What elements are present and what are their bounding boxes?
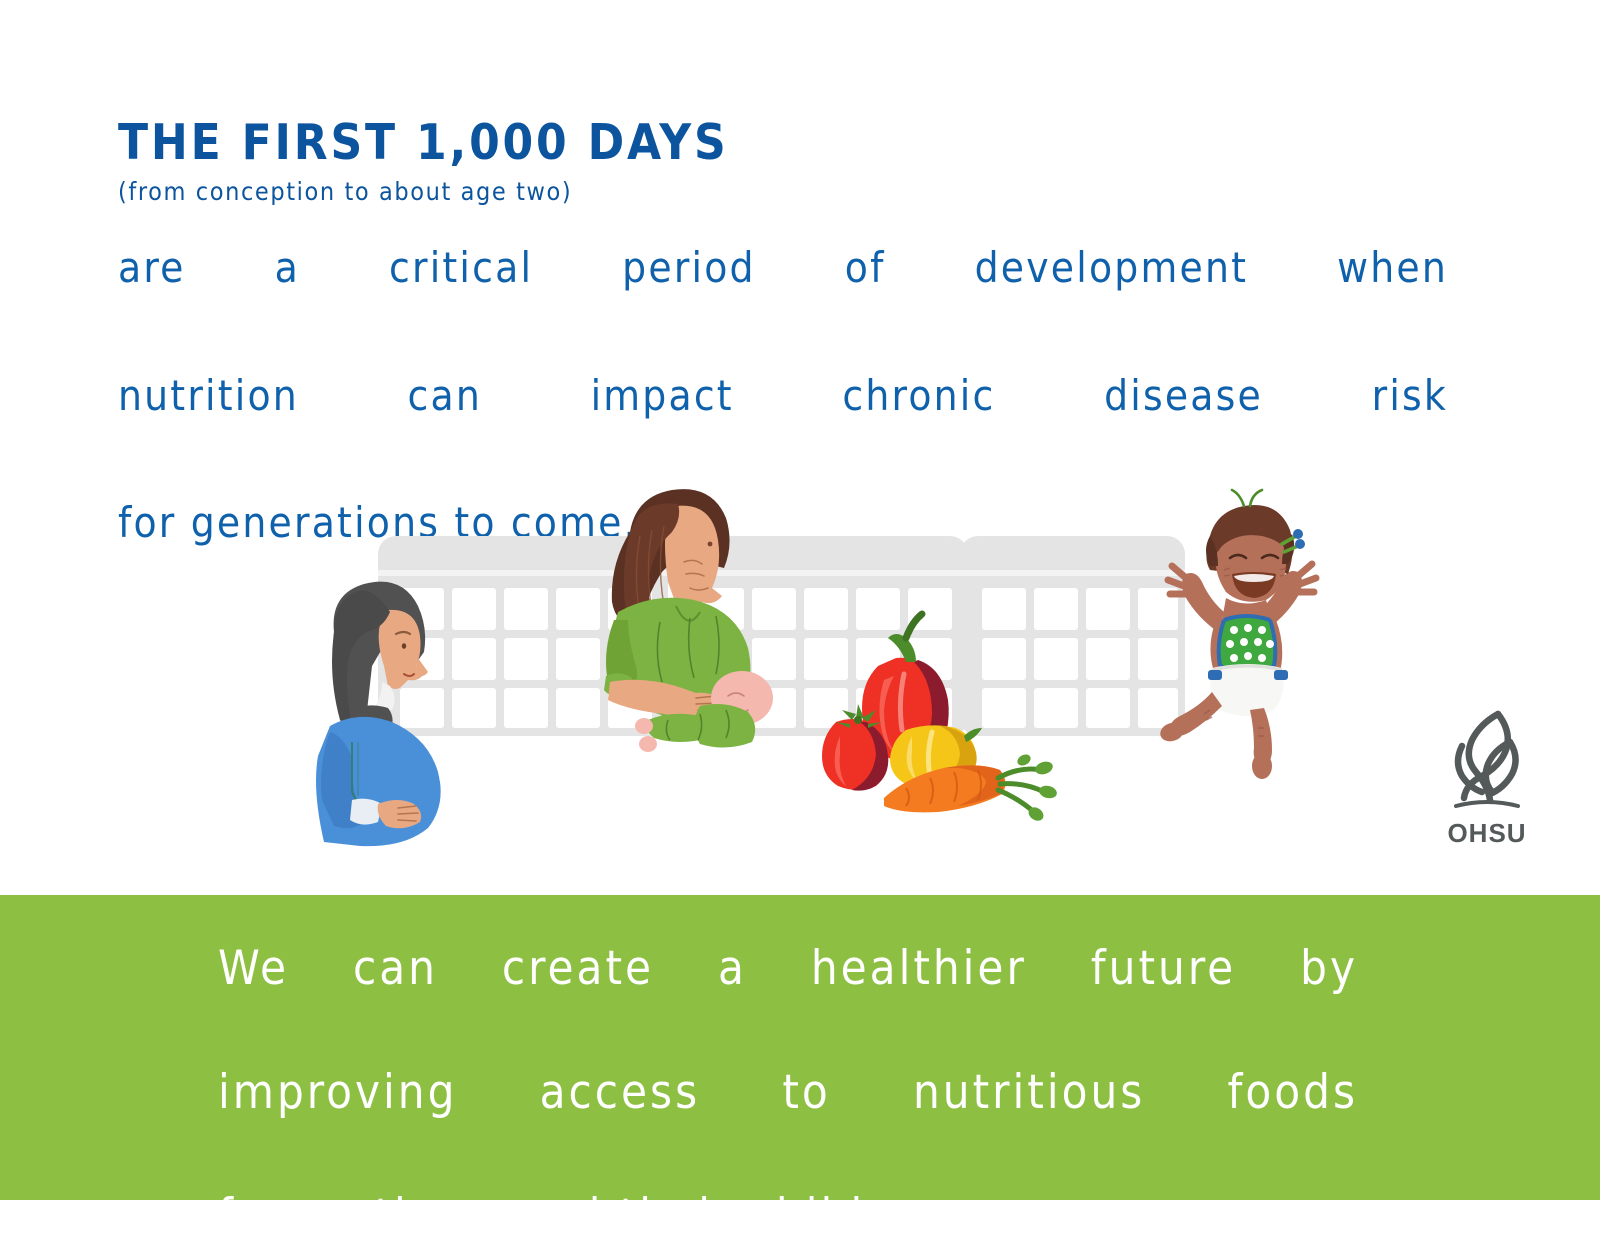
body-line-1: are a critical period of development whe…: [118, 236, 1448, 364]
ohsu-logo: OHSU: [1432, 706, 1542, 851]
ohsu-flame-icon: [1432, 706, 1542, 816]
ohsu-wordmark: OHSU: [1432, 818, 1542, 849]
green-banner: We can create a healthier future by impr…: [0, 895, 1600, 1200]
banner-line-3: for mothers and their children.: [218, 1186, 1358, 1248]
illustration-area: [0, 470, 1600, 890]
calendar-block-3: [960, 536, 1185, 736]
banner-line-1: We can create a healthier future by: [218, 938, 1358, 1062]
page-subtitle: (from conception to about age two): [118, 177, 1458, 206]
banner-line-2: improving access to nutritious foods: [218, 1062, 1358, 1186]
banner-message: We can create a healthier future by impr…: [218, 938, 1358, 1248]
page-title: THE FIRST 1,000 DAYS: [118, 118, 1458, 169]
